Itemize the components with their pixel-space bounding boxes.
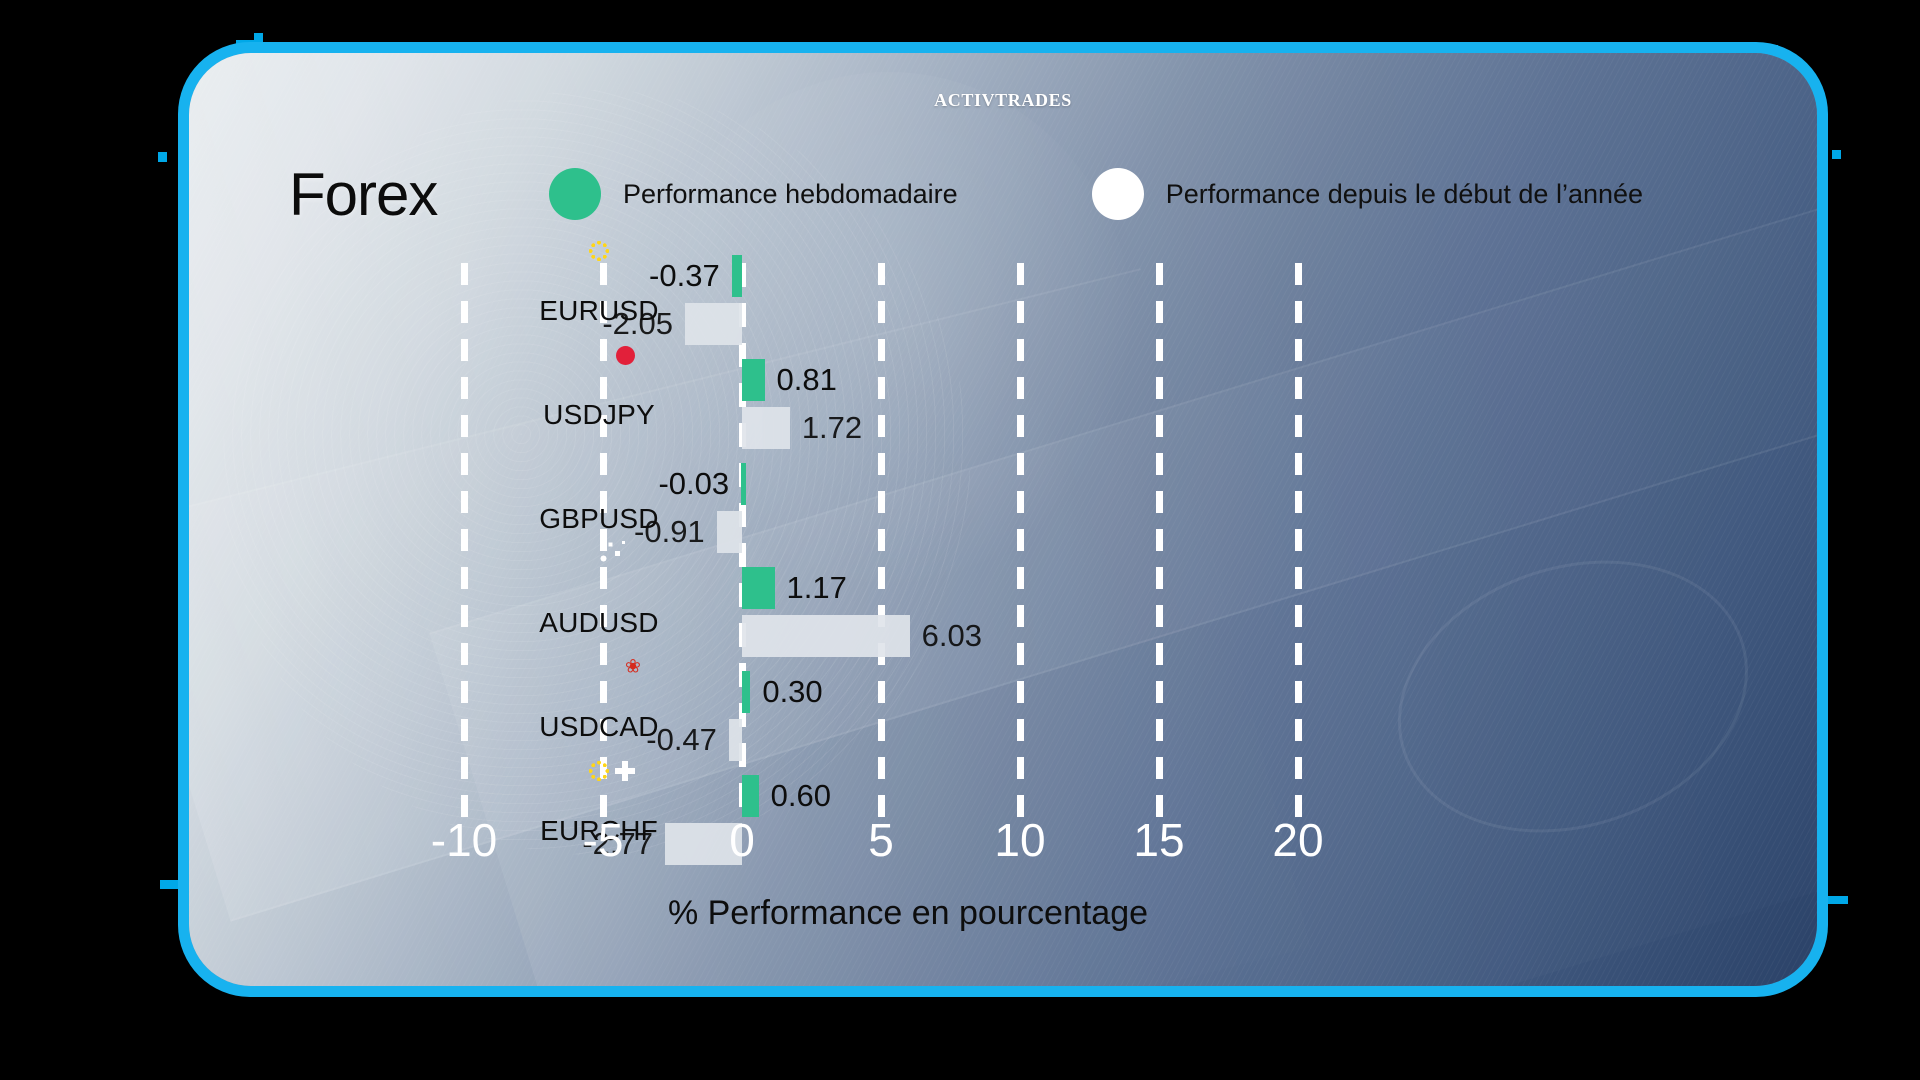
- legend-label-ytd: Performance depuis le début de l’année: [1166, 179, 1643, 210]
- chart-header: Forex Performance hebdomadaire Performan…: [289, 153, 1767, 235]
- legend-item-ytd[interactable]: Performance depuis le début de l’année: [1092, 168, 1643, 220]
- chart-card-frame: ActivTrades Forex Performance hebdomadai…: [178, 42, 1828, 997]
- chart-card: ActivTrades Forex Performance hebdomadai…: [189, 53, 1817, 986]
- bar-usdjpy-ytd[interactable]: 1.72: [742, 407, 790, 449]
- legend-dot-ytd-icon: [1092, 168, 1144, 220]
- bar-value-usdjpy-ytd: 1.72: [802, 410, 862, 446]
- chart-row: AUDUSD1.176.03: [189, 563, 1817, 668]
- legend-item-weekly[interactable]: Performance hebdomadaire: [549, 168, 958, 220]
- x-tick-label--10: -10: [431, 817, 497, 863]
- bar-value-audusd-ytd: 6.03: [922, 618, 982, 654]
- bar-wrapper: 1.17: [189, 567, 1817, 609]
- chart-row: USDCAD0.30-0.47: [189, 667, 1817, 772]
- bar-eurusd-ytd[interactable]: -2.05: [685, 303, 742, 345]
- bar-value-gbpusd-weekly: -0.03: [658, 466, 729, 502]
- bar-eurchf-weekly[interactable]: 0.60: [742, 775, 759, 817]
- bar-value-eurusd-ytd: -2.05: [602, 306, 673, 342]
- chart-row: EURUSD-0.37-2.05: [189, 251, 1817, 356]
- bar-wrapper: 1.72: [189, 407, 1817, 449]
- crop-mark-right: [1832, 150, 1841, 159]
- x-tick-label-5: 5: [868, 817, 894, 863]
- bar-gbpusd-ytd[interactable]: -0.91: [717, 511, 742, 553]
- bar-eurusd-weekly[interactable]: -0.37: [732, 255, 742, 297]
- bar-wrapper: -0.37: [189, 255, 1817, 297]
- bar-wrapper: 0.30: [189, 671, 1817, 713]
- x-axis-ticks: -10-505101520: [189, 817, 1817, 877]
- bar-usdcad-weekly[interactable]: 0.30: [742, 671, 750, 713]
- chart-plot-area: EURUSD-0.37-2.05USDJPY0.811.72GBPUSD-0.0…: [189, 249, 1817, 939]
- bar-wrapper: -0.91: [189, 511, 1817, 553]
- x-tick-label-10: 10: [994, 817, 1045, 863]
- bar-audusd-weekly[interactable]: 1.17: [742, 567, 775, 609]
- page-root: ActivTrades Forex Performance hebdomadai…: [0, 0, 1920, 1080]
- x-tick-label--5: -5: [583, 817, 624, 863]
- crop-mark-left: [158, 152, 167, 162]
- bar-wrapper: 6.03: [189, 615, 1817, 657]
- chart-rows: EURUSD-0.37-2.05USDJPY0.811.72GBPUSD-0.0…: [189, 249, 1817, 817]
- bar-value-gbpusd-ytd: -0.91: [634, 514, 705, 550]
- x-tick-label-0: 0: [729, 817, 755, 863]
- chart-row: GBPUSD-0.03-0.91: [189, 459, 1817, 564]
- legend-dot-weekly-icon: [549, 168, 601, 220]
- bar-value-eurchf-weekly: 0.60: [771, 778, 831, 814]
- bar-wrapper: -2.05: [189, 303, 1817, 345]
- bar-value-eurusd-weekly: -0.37: [649, 258, 720, 294]
- bar-value-audusd-weekly: 1.17: [787, 570, 847, 606]
- bar-audusd-ytd[interactable]: 6.03: [742, 615, 910, 657]
- x-tick-label-15: 15: [1133, 817, 1184, 863]
- bar-value-usdcad-weekly: 0.30: [762, 674, 822, 710]
- bar-wrapper: 0.81: [189, 359, 1817, 401]
- x-tick-label-20: 20: [1272, 817, 1323, 863]
- page-title: Forex: [289, 160, 529, 229]
- bar-value-usdjpy-weekly: 0.81: [777, 362, 837, 398]
- bar-wrapper: 0.60: [189, 775, 1817, 817]
- bar-gbpusd-weekly[interactable]: -0.03: [741, 463, 746, 505]
- chart-legend: Performance hebdomadaire Performance dep…: [549, 168, 1643, 220]
- x-axis-title: % Performance en pourcentage: [189, 894, 1817, 933]
- chart-row: USDJPY0.811.72: [189, 355, 1817, 460]
- x-axis-title-text: % Performance en pourcentage: [668, 894, 1148, 933]
- activtrades-logo: ActivTrades: [189, 83, 1817, 113]
- bar-usdjpy-weekly[interactable]: 0.81: [742, 359, 765, 401]
- bar-value-usdcad-ytd: -0.47: [646, 722, 717, 758]
- legend-label-weekly: Performance hebdomadaire: [623, 179, 958, 210]
- bar-usdcad-ytd[interactable]: -0.47: [729, 719, 742, 761]
- bar-wrapper: -0.03: [189, 463, 1817, 505]
- bar-wrapper: -0.47: [189, 719, 1817, 761]
